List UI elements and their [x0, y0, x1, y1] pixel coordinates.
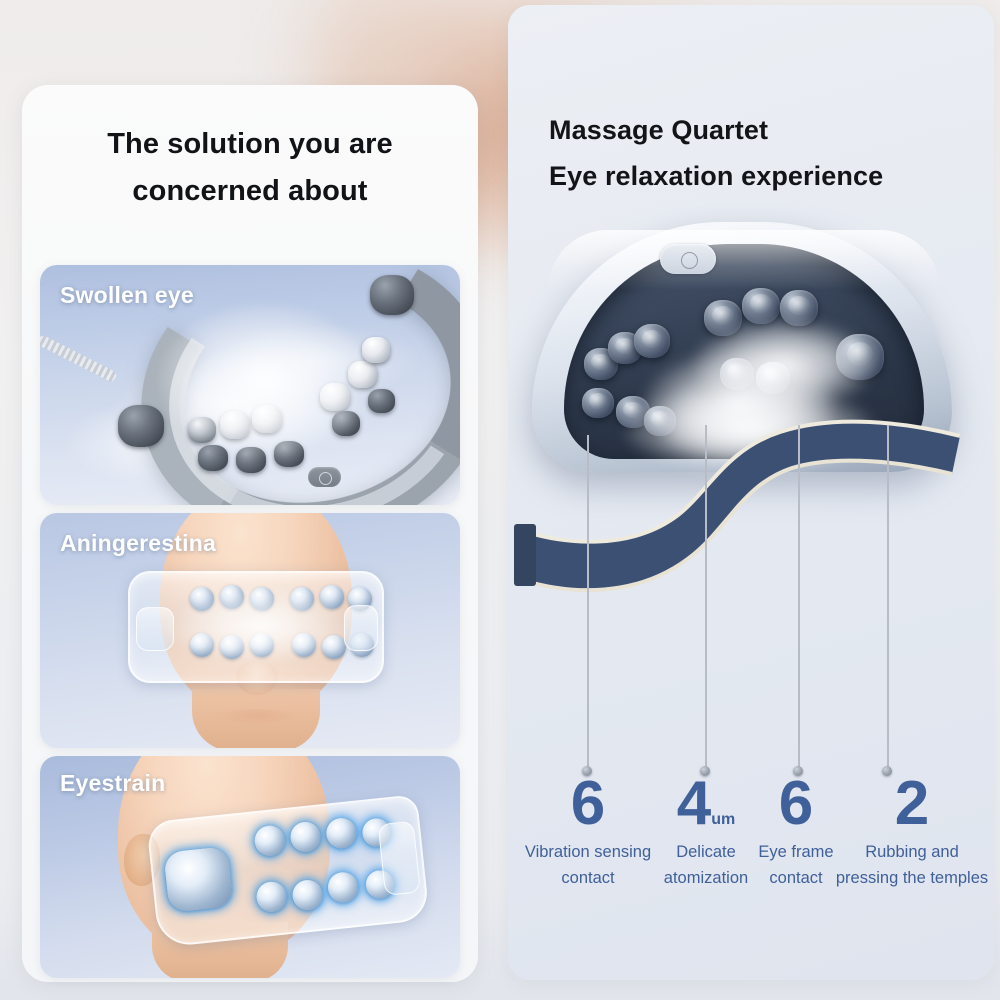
steam-mist — [160, 305, 370, 455]
product-power-button[interactable] — [660, 244, 716, 274]
massage-node — [118, 405, 164, 447]
right-panel-card: Massage Quartet Eye relaxation experienc… — [508, 5, 994, 980]
left-panel-card: The solution you are concerned about — [22, 85, 478, 982]
stat-caption-line-1: Rubbing and — [828, 839, 994, 865]
stat-unit: um — [711, 811, 735, 828]
connector-line-3 — [798, 425, 800, 770]
stat-number: 6 — [571, 775, 604, 832]
fabric-head-strap — [508, 318, 994, 618]
feature-tile-eyestrain[interactable]: Eyestrain — [40, 756, 460, 978]
massage-node-glowing — [289, 820, 322, 853]
steam-mist — [170, 591, 350, 661]
stat-value-wrap: 2 — [828, 775, 994, 832]
massager-shell-highlight — [548, 230, 940, 290]
mannequin-mouth — [218, 709, 296, 725]
right-panel-heading: Massage Quartet Eye relaxation experienc… — [549, 107, 969, 200]
feature-tile-aningerestina[interactable]: Aningerestina — [40, 513, 460, 748]
stat-number: 2 — [895, 775, 928, 832]
stat-number: 4 — [677, 775, 710, 832]
product-hero-image — [508, 200, 994, 720]
massage-node-glowing — [253, 824, 286, 857]
feature-tile-swollen-eye[interactable]: Swollen eye — [40, 265, 460, 505]
connector-line-4 — [887, 425, 889, 770]
right-heading-line-2: Eye relaxation experience — [549, 153, 969, 199]
stat-caption-line-2: pressing the temples — [828, 865, 994, 891]
connector-line-2 — [705, 425, 707, 770]
massage-node-glowing — [327, 871, 360, 904]
tile-label-swollen-eye: Swollen eye — [60, 282, 194, 309]
tile-label-eyestrain: Eyestrain — [60, 770, 165, 797]
right-heading-line-1: Massage Quartet — [549, 107, 969, 153]
left-heading-line-2: concerned about — [22, 168, 478, 215]
power-cable — [40, 334, 118, 383]
left-panel-heading: The solution you are concerned about — [22, 121, 478, 215]
left-side-pod — [136, 607, 174, 651]
massage-node-glowing — [291, 879, 324, 912]
massage-node-glowing — [163, 846, 233, 912]
stat-number: 6 — [779, 775, 812, 832]
massage-node-glowing — [255, 880, 288, 913]
massage-node — [370, 275, 414, 315]
connector-line-1 — [587, 435, 589, 770]
massage-node-glowing — [325, 817, 358, 850]
stat-block-rubbing-temples: 2 Rubbing and pressing the temples — [828, 775, 994, 891]
massage-node — [368, 389, 395, 413]
stat-caption: Rubbing and pressing the temples — [828, 839, 994, 891]
right-side-pod — [378, 821, 421, 896]
tile-label-aningerestina: Aningerestina — [60, 530, 216, 557]
device-power-button[interactable] — [308, 467, 341, 487]
left-heading-line-1: The solution you are — [22, 121, 478, 168]
